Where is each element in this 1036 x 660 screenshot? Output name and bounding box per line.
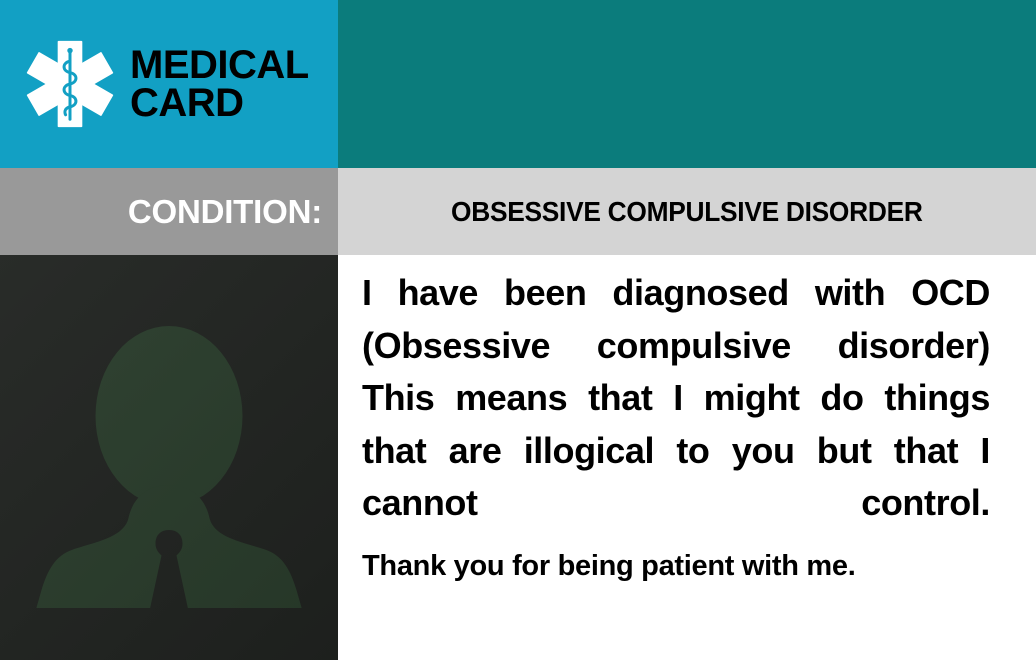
star-of-life-icon xyxy=(26,38,114,130)
body-paragraph: I have been diagnosed with OCD (Obsessiv… xyxy=(362,267,990,530)
brand-title-line-1: MEDICAL xyxy=(130,46,309,84)
medical-card: MEDICAL CARD CONDITION: OBSESSIVE COMPUL… xyxy=(0,0,1036,660)
condition-label-container: CONDITION: xyxy=(0,168,338,255)
brand-title: MEDICAL CARD xyxy=(130,46,309,122)
card-body: I have been diagnosed with OCD (Obsessiv… xyxy=(338,255,1036,660)
condition-value: OBSESSIVE COMPULSIVE DISORDER xyxy=(451,196,923,228)
condition-label: CONDITION: xyxy=(128,193,322,231)
condition-value-container: OBSESSIVE COMPULSIVE DISORDER xyxy=(338,168,1036,255)
photo-placeholder xyxy=(0,255,338,660)
card-header-accent-panel xyxy=(338,0,1036,168)
body-signoff: Thank you for being patient with me. xyxy=(362,548,990,586)
brand-title-line-2: CARD xyxy=(130,84,309,122)
card-header-brand: MEDICAL CARD xyxy=(0,0,338,168)
